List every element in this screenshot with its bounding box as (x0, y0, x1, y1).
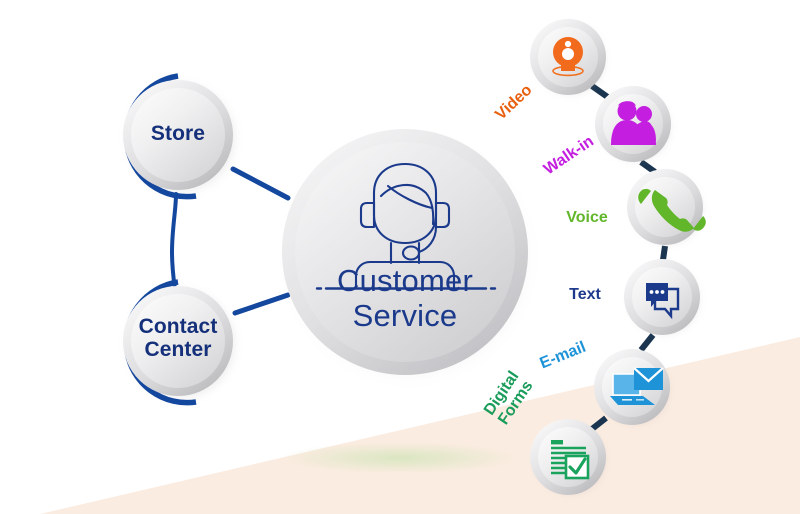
contact-center-label-line2: Center (118, 339, 238, 362)
page-title: Customer Service (285, 263, 525, 334)
contact-center-node-label: Contact Center (118, 316, 238, 361)
store-label-line1: Store (118, 123, 238, 146)
green-glow (280, 442, 520, 474)
hub-title-line1: Customer (285, 263, 525, 298)
diagram-canvas: Customer Service Store Contact Center Vi… (0, 0, 800, 514)
text-label-text: Text (557, 286, 613, 303)
contact-center-label-line1: Contact (118, 316, 238, 339)
hub-title-line2: Service (285, 298, 525, 333)
connector-text-to-email (641, 335, 653, 350)
channel-label-text: Text (557, 286, 613, 303)
voice-label-text: Voice (557, 209, 617, 226)
hub-circle[interactable] (282, 129, 532, 381)
diagram-graphics (0, 0, 800, 514)
connector-voice-to-text (663, 246, 665, 260)
store-node-label: Store (118, 123, 238, 146)
channel-label-voice: Voice (557, 209, 617, 226)
connector-store-to-hub (233, 169, 288, 198)
connector-contactcenter-to-hub (235, 295, 288, 313)
